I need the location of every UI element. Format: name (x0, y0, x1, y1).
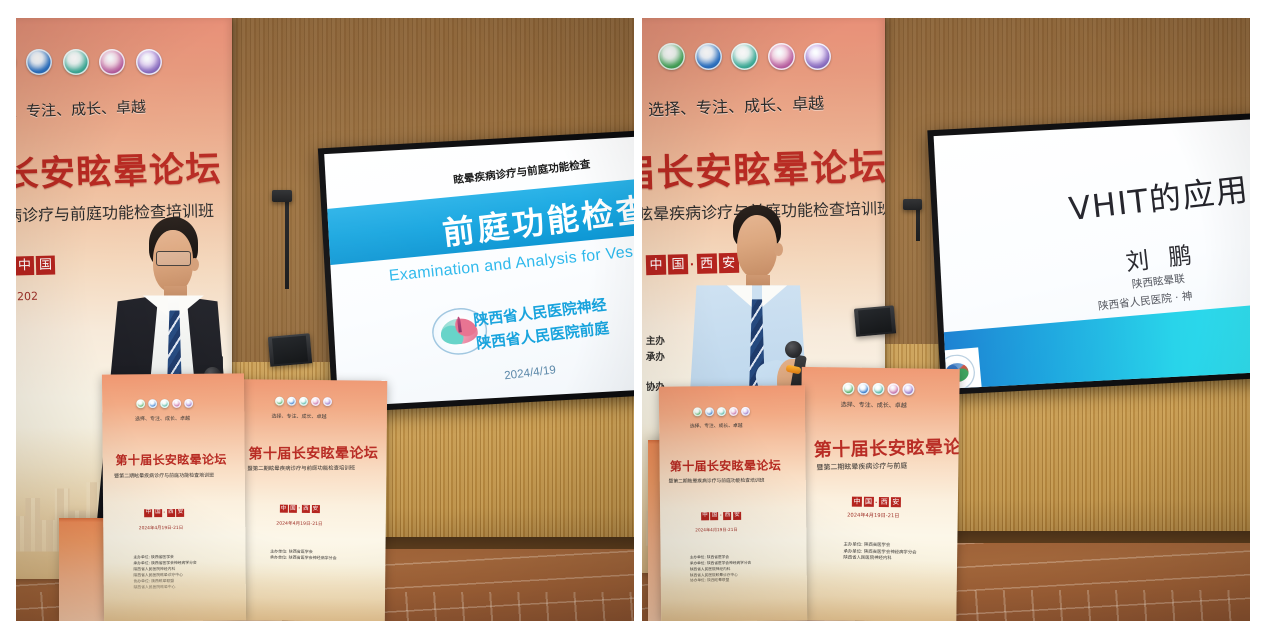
ear (190, 258, 199, 271)
org-line-1: 主办单位: 陕西省医学会 (844, 542, 917, 550)
teal-emblem (873, 383, 885, 395)
standee-slogan: 选择、专注、成长、卓越 (841, 399, 907, 409)
standee-title: 第十届长安眩晕论坛 (670, 456, 781, 474)
standee-china-xian: 中 国 · 西 安 (144, 508, 184, 516)
cx-char-1: 中 (852, 497, 862, 507)
standee-emblem-row (275, 396, 332, 406)
standee-date: 2024年4月19日-21日 (695, 527, 737, 533)
standee-date: 2024年4月19日-21日 (847, 512, 899, 520)
slide-accent-band (933, 299, 1250, 389)
green-emblem (658, 43, 685, 70)
blue-cross-emblem (695, 43, 722, 70)
cx-char-2: 国 (711, 512, 719, 520)
org-label-2: 承办 (646, 350, 665, 366)
slide-date: 2024/4/19 (504, 364, 557, 383)
eyeglasses (156, 251, 192, 267)
cx-char-1: 中 (280, 505, 288, 513)
purple-emblem (741, 407, 750, 416)
photo-composite: 选择、专注、成长、卓越 届长安眩晕论坛 晕疾病诊疗与前庭功能检查培训班 中 国 … (0, 0, 1267, 633)
org-line-4: 陕西省人民医院眩晕诊疗中心 (690, 572, 751, 578)
cx-char-4: 安 (733, 512, 741, 520)
slide-content: 眩晕疾病诊疗与前庭功能检查 前庭功能检查 Examination and Ana… (324, 136, 634, 407)
banner-china-xian: 中 国 (16, 256, 55, 276)
banner-slogan: 选择、专注、成长、卓越 (16, 96, 146, 123)
photo-panel-left: 选择、专注、成长、卓越 届长安眩晕论坛 晕疾病诊疗与前庭功能检查培训班 中 国 … (16, 18, 634, 621)
org-line-6: 陕西省人民医院眩晕中心 (133, 583, 196, 589)
standee-front-left: 选择、专注、成长、卓越 第十届长安眩晕论坛 暨第二期眩晕疾病诊疗与前庭功能检查培… (101, 373, 245, 621)
teal-emblem (717, 407, 726, 416)
org-line-2: 承办单位: 陕西省医学会神经病学分会 (690, 561, 751, 567)
cx-char-2: 国 (153, 509, 161, 517)
org-line-2: 承办单位: 陕西省医学会神经病学分会 (133, 560, 196, 566)
standee-slogan: 选择、专注、成长、卓越 (272, 412, 327, 420)
blue-cross-emblem (148, 399, 157, 408)
cx-char-2: 国 (864, 497, 874, 507)
cx-separator: · (875, 497, 878, 506)
standee-emblem-row (843, 382, 915, 395)
blue-cross-emblem (705, 407, 714, 416)
ear (774, 243, 783, 256)
cx-separator: · (720, 513, 722, 519)
slide-header: 眩晕疾病诊疗与前庭功能检查 (452, 154, 591, 186)
standee-title: 第十届长安眩晕论坛 (249, 442, 379, 463)
green-emblem (275, 396, 284, 405)
standee-slogan: 选择、专注、成长、卓越 (134, 414, 189, 421)
standee-title: 第十届长安眩晕论坛 (115, 450, 226, 468)
cx-char-3: 西 (166, 508, 174, 516)
ceiling-camera (903, 199, 922, 210)
slide-presenter-name: 刘 鹏 (1124, 235, 1200, 277)
org-line-2: 承办单位: 陕西省医学会神经病学分会 (270, 554, 337, 561)
blue-cross-emblem (26, 49, 52, 75)
ceiling-camera (272, 190, 292, 202)
blue-cross-emblem (858, 383, 870, 395)
pink-emblem (768, 43, 795, 70)
org-line-3: 陕西省人民医院神经内科 (690, 566, 751, 572)
pink-emblem (172, 398, 181, 407)
purple-emblem (184, 398, 193, 407)
cx-separator: · (299, 506, 301, 512)
cx-char-2: 国 (36, 256, 55, 275)
pink-emblem (311, 397, 320, 406)
cx-char-1: 中 (701, 512, 709, 520)
org-line-3: 陕西省人民医院神经内科 (843, 556, 916, 564)
standee-subtitle: 暨第二期眩晕疾病诊疗与前庭功能检查培训班 (248, 464, 356, 473)
photo-panel-right: 选择、专注、成长、卓越 届长安眩晕论坛 期眩晕疾病诊疗与前庭功能检查培训班 中 … (642, 18, 1250, 621)
purple-emblem (323, 397, 332, 406)
head (737, 215, 778, 278)
projection-screen-right: VHIT的应用 刘 鹏 陕西眩晕联 陕西省人民医院 · 神 (927, 111, 1250, 394)
cx-char-4: 安 (312, 505, 320, 513)
org-line-3: 陕西省人民医院神经内科 (133, 566, 196, 572)
teal-emblem (299, 397, 308, 406)
teal-emblem (160, 399, 169, 408)
cx-char-1: 中 (646, 254, 667, 275)
org-line-5: 协办单位: 陕西眩晕联盟 (690, 578, 751, 584)
teal-emblem (63, 49, 89, 75)
projection-screen-left: 眩晕疾病诊疗与前庭功能检查 前庭功能检查 Examination and Ana… (318, 129, 634, 413)
standee-china-xian: 中 国 · 西 安 (280, 505, 320, 513)
green-emblem (843, 382, 855, 394)
cx-char-4: 安 (176, 508, 184, 516)
purple-emblem (136, 49, 162, 75)
green-emblem (136, 399, 145, 408)
standee-org-block: 主办单位: 陕西省医学会 承办单位: 陕西省医学会神经病学分会 (270, 548, 337, 561)
slide-title: VHIT的应用 (1066, 162, 1250, 229)
standee-subtitle: 暨第二期眩晕疾病诊疗与前庭 (816, 460, 907, 472)
blue-cross-emblem (287, 396, 296, 405)
standee-date: 2024年4月19日-21日 (277, 521, 323, 527)
slide-surface: 眩晕疾病诊疗与前庭功能检查 前庭功能检查 Examination and Ana… (324, 136, 634, 407)
purple-emblem (804, 43, 831, 70)
standee-back-left: 选择、专注、成长、卓越 第十届长安眩晕论坛 暨第二期眩晕疾病诊疗与前庭功能检查培… (237, 379, 388, 621)
standee-org-block: 主办单位: 陕西省医学会 承办单位: 陕西省医学会神经病学分会 陕西省人民医院神… (843, 542, 916, 564)
slide-surface: VHIT的应用 刘 鹏 陕西眩晕联 陕西省人民医院 · 神 (933, 118, 1250, 389)
purple-emblem (903, 383, 915, 395)
standee-title: 第十届长安眩晕论坛 (813, 432, 960, 461)
cx-separator: · (163, 510, 165, 516)
pink-emblem (888, 383, 900, 395)
cx-char-1: 中 (16, 256, 34, 275)
standee-subtitle: 暨第二期眩晕疾病诊疗与前庭功能检查培训班 (669, 476, 765, 484)
slide-content: VHIT的应用 刘 鹏 陕西眩晕联 陕西省人民医院 · 神 (933, 118, 1250, 389)
banner-emblem-row (16, 49, 200, 75)
banner-title: 届长安眩晕论坛 (16, 141, 223, 199)
standee-back-right: 选择、专注、成长、卓越 第十届长安眩晕论坛 暨第二期眩晕疾病诊疗与前庭 中 国 … (798, 367, 960, 621)
standee-china-xian: 中 国 · 西 安 (701, 512, 741, 520)
standee-date: 2024年4月19日-21日 (138, 524, 182, 530)
cx-char-3: 西 (879, 497, 889, 507)
org-line-5: 协办单位: 陕西眩晕联盟 (133, 578, 196, 584)
banner-title: 届长安眩晕论坛 (642, 136, 885, 198)
banner-emblem-row (658, 43, 847, 70)
cx-char-1: 中 (144, 509, 152, 517)
pink-emblem (99, 49, 125, 75)
standee-emblem-row (693, 407, 750, 417)
camera-mount-pole (916, 205, 920, 241)
org-line-4: 陕西省人民医院眩晕诊疗中心 (133, 572, 196, 578)
standee-org-block: 主办单位: 陕西省医学会 承办单位: 陕西省医学会神经病学分会 陕西省人民医院神… (133, 554, 197, 590)
green-emblem (693, 407, 702, 416)
standee-emblem-row (136, 398, 193, 407)
banner-year-fragment: 202 (17, 290, 38, 304)
standee-china-xian: 中 国 · 西 安 (852, 497, 901, 508)
cx-char-4: 安 (891, 497, 901, 507)
standee-front-right: 选择、专注、成长、卓越 第十届长安眩晕论坛 暨第二期眩晕疾病诊疗与前庭功能检查培… (659, 385, 807, 621)
cx-char-3: 西 (724, 512, 732, 520)
standee-org-block: 主办单位: 陕西省医学会 承办单位: 陕西省医学会神经病学分会 陕西省人民医院神… (690, 555, 752, 584)
standee-subtitle: 暨第二期眩晕疾病诊疗与前庭功能检查培训班 (114, 471, 214, 479)
standee-slogan: 选择、专注、成长、卓越 (690, 422, 743, 430)
org-label-1: 主办 (646, 334, 665, 350)
cx-char-3: 西 (302, 505, 310, 513)
teal-emblem (731, 43, 758, 70)
banner-slogan: 选择、专注、成长、卓越 (648, 90, 825, 121)
pink-emblem (729, 407, 738, 416)
cx-char-2: 国 (289, 505, 297, 513)
